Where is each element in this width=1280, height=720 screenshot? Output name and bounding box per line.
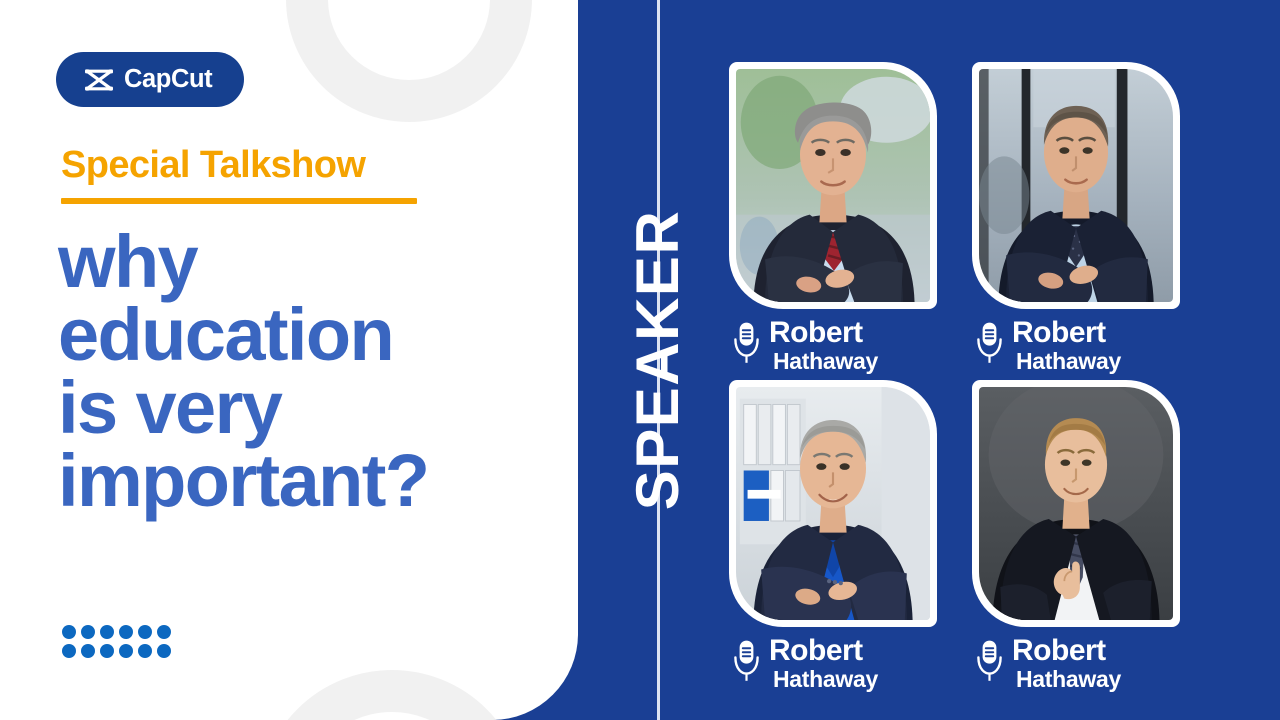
speaker-last-name: Hathaway <box>1016 668 1121 691</box>
dot <box>62 625 76 639</box>
speaker-name: Robert Hathaway <box>1012 636 1121 691</box>
photo-frame <box>972 380 1180 627</box>
microphone-icon <box>976 639 1003 681</box>
speaker-last-name: Hathaway <box>1016 350 1121 373</box>
speaker-last-name: Hathaway <box>773 350 878 373</box>
dot <box>157 644 171 658</box>
speaker-card-grid: Robert Hathaway <box>729 62 1239 682</box>
speaker-first-name: Robert <box>769 318 878 348</box>
headline-line: education <box>58 299 428 372</box>
speaker-section-label: SPEAKER <box>628 210 688 511</box>
dot <box>138 644 152 658</box>
portrait-illustration <box>736 69 930 302</box>
capcut-brand-badge[interactable]: CapCut <box>56 52 244 107</box>
photo-frame <box>729 380 937 627</box>
decorative-dot-grid <box>62 625 173 660</box>
speaker-last-name: Hathaway <box>773 668 878 691</box>
speaker-photo-2 <box>979 69 1173 302</box>
speaker-first-name: Robert <box>769 636 878 666</box>
speaker-name-row: Robert Hathaway <box>976 636 1121 691</box>
subtitle-underline <box>61 198 417 204</box>
microphone-icon <box>733 639 760 681</box>
speaker-name-row: Robert Hathaway <box>976 318 1121 373</box>
photo-frame <box>729 62 937 309</box>
dot <box>81 644 95 658</box>
dot <box>119 644 133 658</box>
portrait-illustration <box>979 69 1173 302</box>
speaker-photo-3 <box>736 387 930 620</box>
speaker-card[interactable]: Robert Hathaway <box>972 62 1180 309</box>
headline-line: important? <box>58 445 428 518</box>
portrait-illustration <box>736 387 930 620</box>
dot <box>119 625 133 639</box>
capcut-brand-name: CapCut <box>124 67 212 93</box>
microphone-icon <box>733 321 760 363</box>
decorative-ring-top <box>286 0 532 122</box>
portrait-illustration <box>979 387 1173 620</box>
dot <box>100 644 114 658</box>
capcut-hourglass-icon <box>85 69 113 91</box>
speaker-photo-1 <box>736 69 930 302</box>
speaker-first-name: Robert <box>1012 318 1121 348</box>
speaker-name: Robert Hathaway <box>769 318 878 373</box>
subtitle-text: Special Talkshow <box>61 146 417 186</box>
page-title: why education is very important? <box>58 226 428 518</box>
speaker-photo-4 <box>979 387 1173 620</box>
speaker-name-row: Robert Hathaway <box>733 636 878 691</box>
speaker-card[interactable]: Robert Hathaway <box>729 62 937 309</box>
subtitle-block: Special Talkshow <box>61 146 417 204</box>
dot <box>100 625 114 639</box>
speaker-name: Robert Hathaway <box>1012 318 1121 373</box>
speaker-card[interactable]: Robert Hathaway <box>729 380 937 627</box>
dot <box>138 625 152 639</box>
speaker-panel: SPEAKER <box>578 0 1280 720</box>
dot <box>81 625 95 639</box>
dot <box>62 644 76 658</box>
speaker-card[interactable]: Robert Hathaway <box>972 380 1180 627</box>
photo-frame <box>972 62 1180 309</box>
speaker-name-row: Robert Hathaway <box>733 318 878 373</box>
speaker-first-name: Robert <box>1012 636 1121 666</box>
speaker-name: Robert Hathaway <box>769 636 878 691</box>
dot <box>157 625 171 639</box>
headline-line: is very <box>58 372 428 445</box>
decorative-ring-bottom <box>258 670 526 720</box>
microphone-icon <box>976 321 1003 363</box>
headline-line: why <box>58 226 428 299</box>
